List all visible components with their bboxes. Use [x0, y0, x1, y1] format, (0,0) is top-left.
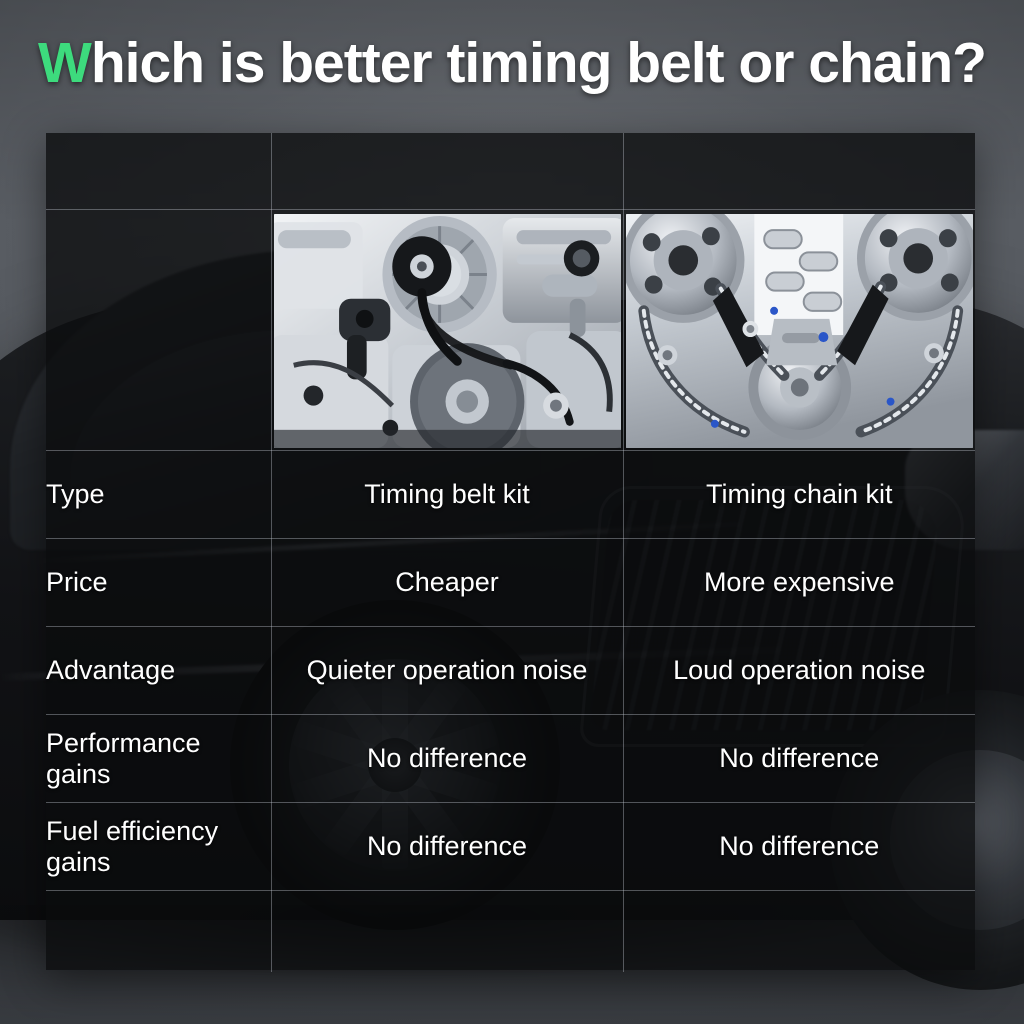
table-row-spacer-bottom [46, 891, 975, 973]
spacer-bottom-cell-chain [623, 891, 975, 973]
spacer-cell-chain [623, 133, 975, 210]
timing-belt-engine-photo [274, 214, 621, 448]
row-value-type-belt: Timing belt kit [271, 451, 623, 539]
timing-chain-photo-cell [623, 210, 975, 451]
spacer-bottom-cell-belt [271, 891, 623, 973]
media-row-label-cell [46, 210, 271, 451]
table-row: Fuel efficiency gains No difference No d… [46, 803, 975, 891]
row-value-price-chain: More expensive [623, 539, 975, 627]
row-value-performance-belt: No difference [271, 715, 623, 803]
row-label-advantage: Advantage [46, 627, 271, 715]
row-value-performance-chain: No difference [623, 715, 975, 803]
spacer-cell-belt [271, 133, 623, 210]
row-value-fuel-chain: No difference [623, 803, 975, 891]
timing-chain-engine-photo [626, 214, 974, 448]
table-row: Price Cheaper More expensive [46, 539, 975, 627]
title-accent-letter: W [38, 31, 91, 95]
spacer-cell-label [46, 133, 271, 210]
row-value-advantage-belt: Quieter operation noise [271, 627, 623, 715]
row-label-price: Price [46, 539, 271, 627]
table-row: Performance gains No difference No diffe… [46, 715, 975, 803]
timing-belt-photo-cell [271, 210, 623, 451]
table-row-media [46, 210, 975, 451]
row-value-type-chain: Timing chain kit [623, 451, 975, 539]
table-row-spacer-top [46, 133, 975, 210]
row-label-type: Type [46, 451, 271, 539]
table-row: Type Timing belt kit Timing chain kit [46, 451, 975, 539]
row-label-performance-gains: Performance gains [46, 715, 271, 803]
row-value-price-belt: Cheaper [271, 539, 623, 627]
comparison-table: Type Timing belt kit Timing chain kit Pr… [46, 133, 975, 972]
comparison-table-panel: Type Timing belt kit Timing chain kit Pr… [46, 133, 975, 970]
row-value-advantage-chain: Loud operation noise [623, 627, 975, 715]
page-title: Which is better timing belt or chain? [0, 30, 1024, 96]
row-label-fuel-efficiency-gains: Fuel efficiency gains [46, 803, 271, 891]
row-value-fuel-belt: No difference [271, 803, 623, 891]
table-row: Advantage Quieter operation noise Loud o… [46, 627, 975, 715]
title-rest: hich is better timing belt or chain? [91, 31, 986, 95]
spacer-bottom-cell-label [46, 891, 271, 973]
